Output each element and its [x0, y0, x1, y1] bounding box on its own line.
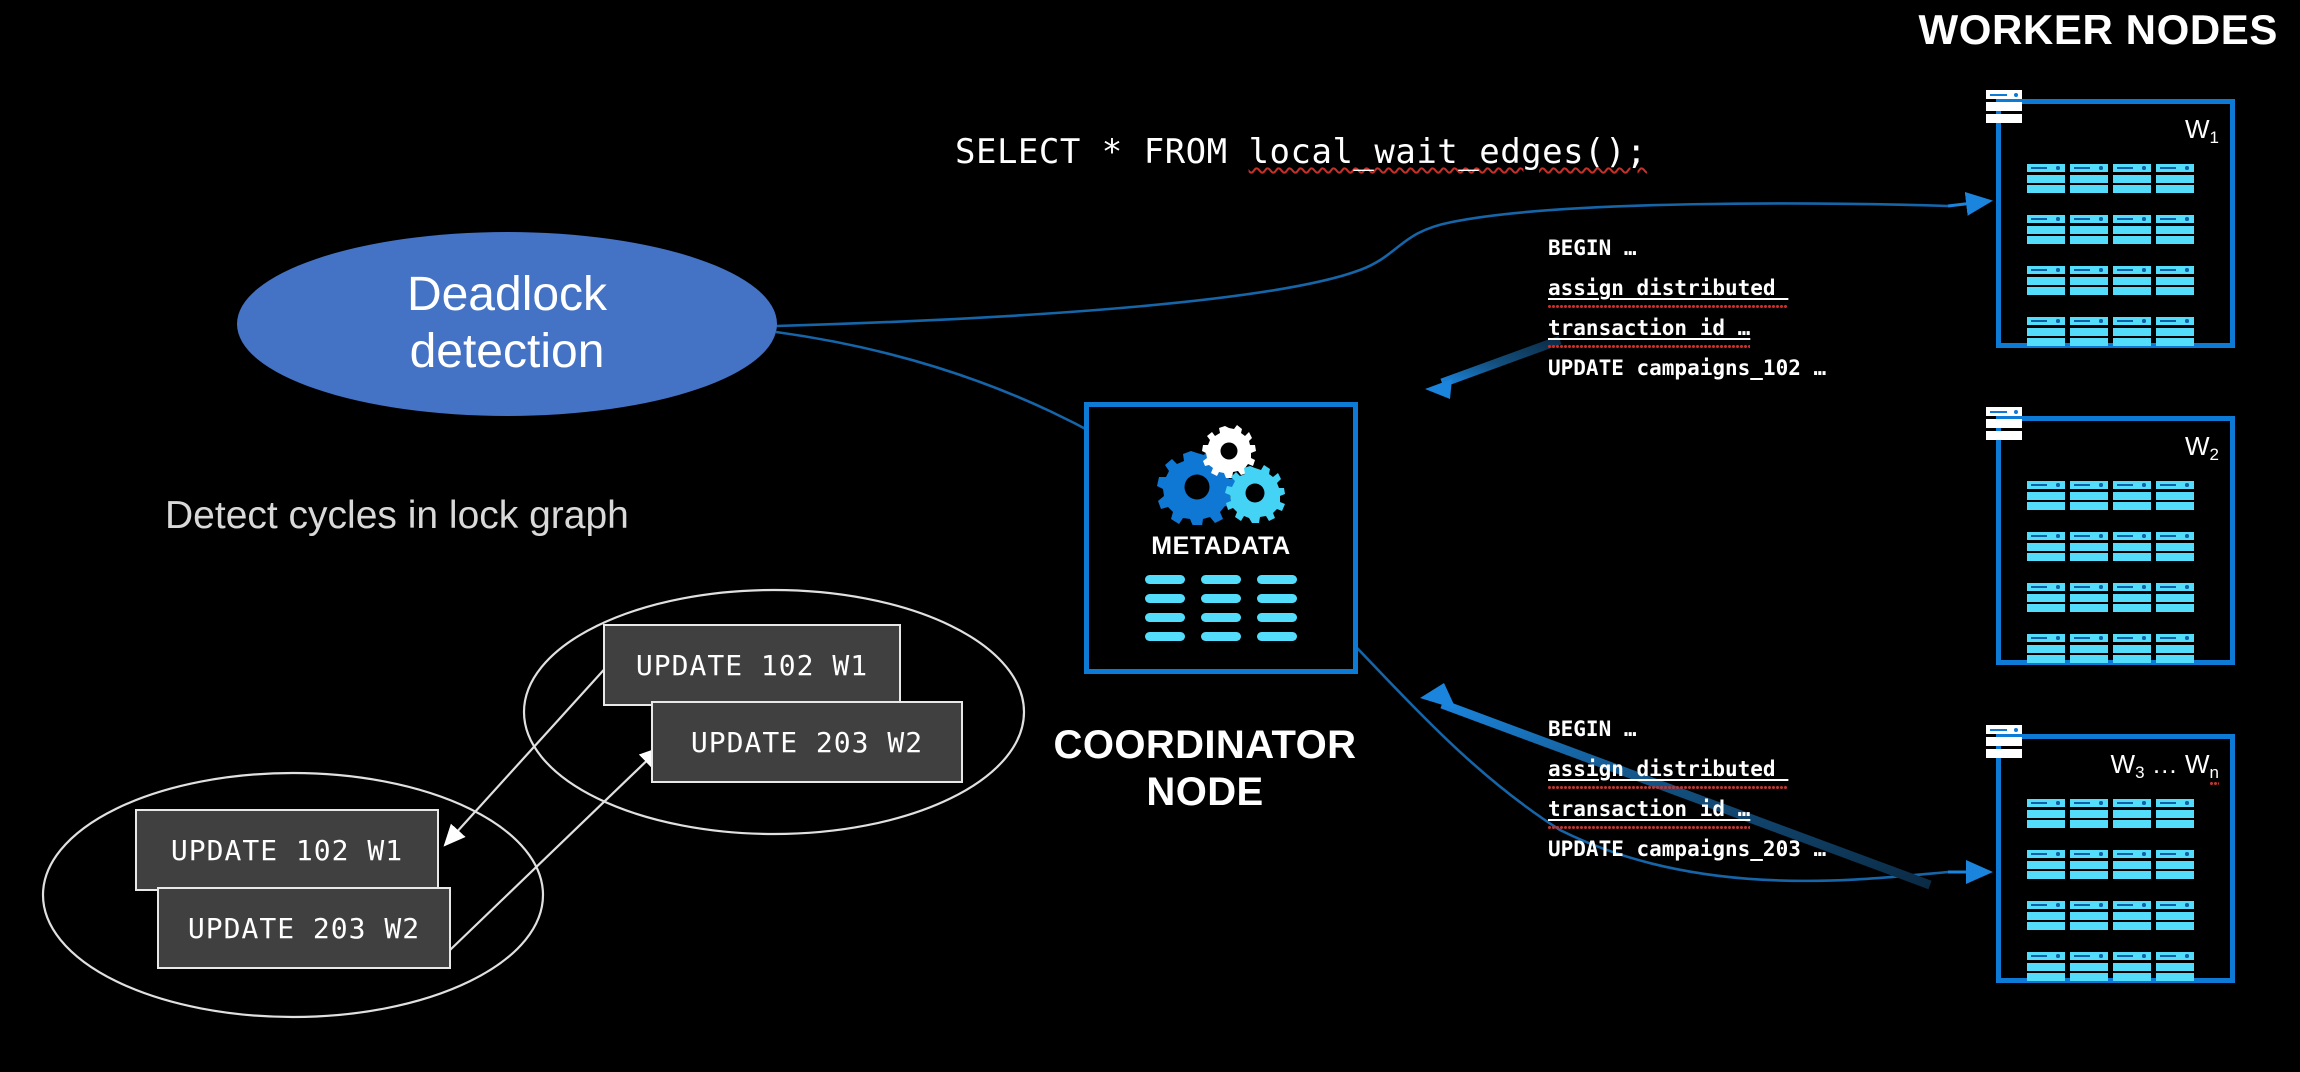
metadata-bar	[1201, 632, 1241, 641]
lock-node-box[interactable]: UPDATE 203 W2	[157, 887, 451, 969]
metadata-bar	[1201, 594, 1241, 603]
shard-icon	[2156, 799, 2194, 834]
shard-icon	[2113, 634, 2151, 669]
shard-grid	[2027, 799, 2194, 987]
server-icon	[1986, 407, 2022, 443]
metadata-bar	[1257, 594, 1297, 603]
shard-icon	[2070, 952, 2108, 987]
metadata-bar-grid	[1145, 575, 1297, 645]
shard-icon	[2113, 799, 2151, 834]
shard-icon	[2156, 850, 2194, 885]
deadlock-detection-label: Deadlock detection	[407, 267, 607, 380]
shard-icon	[2113, 266, 2151, 301]
shard-icon	[2113, 850, 2151, 885]
txn-line-text: transaction_id …	[1548, 797, 1750, 821]
shard-icon	[2070, 215, 2108, 250]
server-icon	[1986, 725, 2022, 761]
transaction-block-203: BEGIN … assign_distributed_ transaction_…	[1548, 709, 1826, 869]
coordinator-node-heading: COORDINATOR NODE	[1025, 722, 1385, 816]
metadata-bar	[1257, 575, 1297, 584]
metadata-bar	[1145, 632, 1185, 641]
metadata-bar	[1145, 613, 1185, 622]
txn-line: BEGIN …	[1548, 709, 1826, 749]
shard-icon	[2113, 583, 2151, 618]
worker-node-label-w3-wn: W3 … Wn	[2111, 749, 2219, 780]
sql-query-function: local_wait_edges();	[1249, 132, 1647, 172]
shard-icon	[2070, 799, 2108, 834]
shard-icon	[2027, 634, 2065, 669]
shard-icon	[2070, 583, 2108, 618]
shard-grid	[2027, 164, 2194, 352]
txn-line: UPDATE campaigns_102 …	[1548, 348, 1826, 388]
shard-icon	[2156, 583, 2194, 618]
shard-icon	[2070, 481, 2108, 516]
sql-query-text: SELECT * FROM local_wait_edges();	[955, 132, 1647, 172]
shard-icon	[2027, 799, 2065, 834]
shard-icon	[2156, 481, 2194, 516]
shard-icon	[2070, 266, 2108, 301]
txn-line-text: transaction_id …	[1548, 316, 1750, 340]
txn-line: assign_distributed_	[1548, 749, 1826, 789]
detect-cycles-caption: Detect cycles in lock graph	[165, 494, 629, 538]
shard-icon	[2113, 532, 2151, 567]
shard-icon	[2027, 850, 2065, 885]
txn-line: transaction_id …	[1548, 789, 1826, 829]
shard-icon	[2113, 317, 2151, 352]
metadata-bar	[1201, 613, 1241, 622]
shard-icon	[2027, 532, 2065, 567]
shard-icon	[2156, 164, 2194, 199]
shard-icon	[2070, 164, 2108, 199]
shard-icon	[2027, 317, 2065, 352]
wait-edge-up	[450, 748, 660, 950]
server-icon	[1986, 90, 2022, 126]
shard-icon	[2156, 634, 2194, 669]
shard-icon	[2070, 850, 2108, 885]
worker-node-label-w1: W1	[2185, 114, 2219, 145]
sql-query-prefix: SELECT * FROM	[955, 132, 1249, 172]
deadlock-detection-node[interactable]: Deadlock detection	[237, 232, 777, 416]
shard-icon	[2156, 266, 2194, 301]
worker-node-label-w2: W2	[2185, 431, 2219, 462]
worker-node-w1[interactable]: W1	[1996, 99, 2235, 348]
shard-icon	[2027, 901, 2065, 936]
arrow-worker1-to-coordinator	[1425, 340, 1560, 399]
txn-line-text: assign_distributed_	[1548, 757, 1788, 781]
txn-line: BEGIN …	[1548, 228, 1826, 268]
txn-line-text: assign_distributed_	[1548, 276, 1788, 300]
shard-icon	[2027, 952, 2065, 987]
metadata-bar	[1257, 632, 1297, 641]
shard-icon	[2070, 532, 2108, 567]
metadata-bar	[1201, 575, 1241, 584]
worker-nodes-heading: WORKER NODES	[1918, 6, 2278, 54]
shard-icon	[2027, 266, 2065, 301]
shard-grid	[2027, 481, 2194, 669]
shard-icon	[2027, 481, 2065, 516]
diagram-canvas: WORKER NODES Deadlock detection Detect c…	[0, 0, 2300, 1072]
shard-icon	[2156, 532, 2194, 567]
shard-icon	[2156, 317, 2194, 352]
shard-icon	[2113, 952, 2151, 987]
worker-node-w2[interactable]: W2	[1996, 416, 2235, 665]
metadata-bar	[1145, 594, 1185, 603]
shard-icon	[2156, 952, 2194, 987]
worker-node-w3-wn[interactable]: W3 … Wn	[1996, 734, 2235, 983]
shard-icon	[2027, 583, 2065, 618]
wait-edge-down	[445, 652, 620, 845]
transaction-block-102: BEGIN … assign_distributed_ transaction_…	[1548, 228, 1826, 388]
shard-icon	[2070, 634, 2108, 669]
shard-icon	[2027, 215, 2065, 250]
lock-node-box[interactable]: UPDATE 102 W1	[135, 809, 439, 891]
shard-icon	[2070, 317, 2108, 352]
gear-cyan	[1225, 465, 1285, 523]
shard-icon	[2113, 481, 2151, 516]
shard-icon	[2113, 164, 2151, 199]
shard-icon	[2113, 901, 2151, 936]
coordinator-node[interactable]: METADATA	[1084, 402, 1358, 674]
txn-line: transaction_id …	[1548, 308, 1826, 348]
shard-icon	[2070, 901, 2108, 936]
metadata-bar	[1145, 575, 1185, 584]
shard-icon	[2156, 215, 2194, 250]
metadata-label: METADATA	[1089, 532, 1353, 561]
shard-icon	[2027, 164, 2065, 199]
lock-node-box[interactable]: UPDATE 102 W1	[603, 624, 901, 706]
shard-icon	[2113, 215, 2151, 250]
metadata-bar	[1257, 613, 1297, 622]
txn-line: UPDATE campaigns_203 …	[1548, 829, 1826, 869]
txn-line: assign_distributed_	[1548, 268, 1826, 308]
gears-icon	[1156, 425, 1286, 525]
shard-icon	[2156, 901, 2194, 936]
lock-node-box[interactable]: UPDATE 203 W2	[651, 701, 963, 783]
